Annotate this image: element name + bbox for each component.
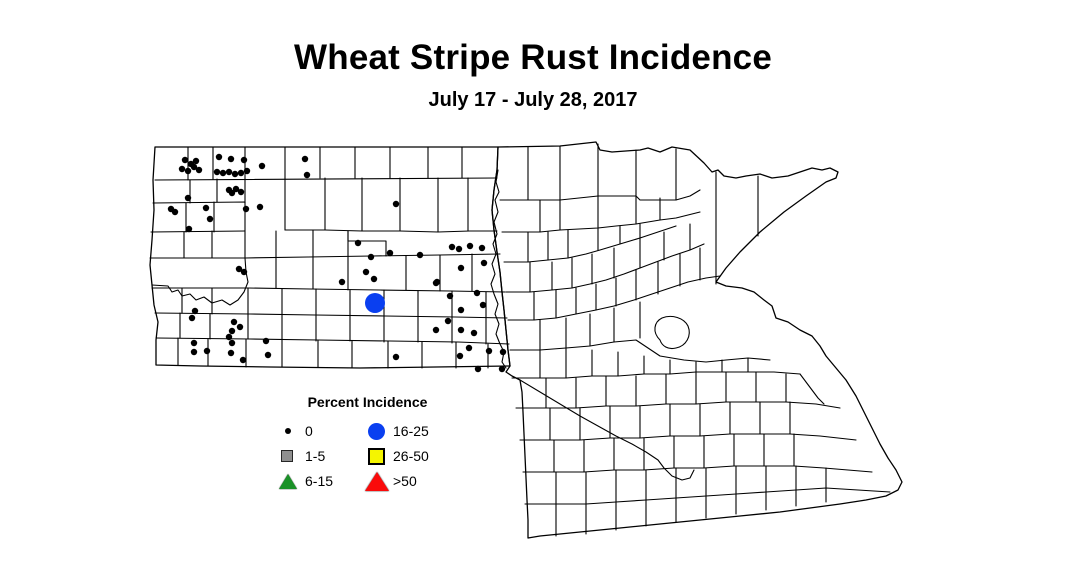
data-point-0 (474, 290, 480, 296)
map-page: Wheat Stripe Rust Incidence July 17 - Ju… (0, 0, 1066, 565)
data-point-0 (265, 352, 271, 358)
data-point-16-25 (365, 293, 385, 313)
states-counties-map (0, 0, 1066, 565)
green-triangle-icon (277, 470, 303, 492)
data-point-0 (467, 243, 473, 249)
data-point-0 (204, 348, 210, 354)
minnesota-outline (492, 142, 902, 538)
data-point-0 (471, 330, 477, 336)
mn-h7 (512, 372, 800, 378)
data-point-0 (238, 189, 244, 195)
data-point-0 (355, 240, 361, 246)
data-point-0 (302, 156, 308, 162)
mn-h2 (502, 212, 700, 232)
legend: Percent Incidence 0 1-5 6-15 16-25 26-50 (275, 394, 460, 494)
legend-label-2: 6-15 (305, 472, 333, 490)
data-point-0 (263, 338, 269, 344)
data-point-0 (499, 366, 505, 372)
data-point-0 (191, 340, 197, 346)
data-point-0 (449, 244, 455, 250)
data-point-0 (189, 315, 195, 321)
nd-tier-3 (151, 231, 245, 232)
nd-tier-6 (155, 313, 507, 318)
nd-notch-1 (348, 231, 386, 256)
legend-item-2[interactable]: 6-15 (277, 470, 367, 492)
legend-item-0[interactable]: 0 (277, 420, 367, 442)
data-point-0 (243, 206, 249, 212)
data-point-0 (191, 349, 197, 355)
legend-label-0: 0 (305, 422, 313, 440)
data-point-0 (228, 350, 234, 356)
legend-item-3[interactable]: 16-25 (365, 420, 460, 442)
data-point-0 (203, 205, 209, 211)
data-point-0 (244, 168, 250, 174)
mn-h10 (523, 466, 872, 472)
data-point-0 (371, 276, 377, 282)
data-point-0 (466, 345, 472, 351)
data-point-0 (458, 327, 464, 333)
mn-h4 (506, 244, 704, 292)
data-point-0 (458, 265, 464, 271)
data-point-0 (229, 190, 235, 196)
data-point-0 (193, 158, 199, 164)
data-point-0 (240, 357, 246, 363)
data-point-0 (237, 324, 243, 330)
data-point-0 (481, 260, 487, 266)
data-point-0 (456, 246, 462, 252)
data-point-0 (226, 169, 232, 175)
legend-item-1[interactable]: 1-5 (277, 445, 367, 467)
legend-items: 0 1-5 6-15 16-25 26-50 >50 (275, 420, 460, 494)
data-point-0 (393, 354, 399, 360)
data-point-0 (228, 156, 234, 162)
data-point-0 (433, 327, 439, 333)
data-point-0 (241, 157, 247, 163)
data-point-0 (433, 280, 439, 286)
map-canvas (0, 0, 1066, 565)
data-point-0 (229, 340, 235, 346)
data-point-0 (363, 269, 369, 275)
data-point-0 (458, 307, 464, 313)
nd-tier-1 (155, 178, 497, 180)
data-point-0 (417, 252, 423, 258)
mn-h11 (525, 488, 890, 504)
data-point-0 (216, 154, 222, 160)
legend-label-3: 16-25 (393, 422, 429, 440)
data-point-0 (480, 302, 486, 308)
mn-h6 (510, 340, 770, 362)
legend-title: Percent Incidence (275, 394, 460, 410)
data-point-0 (232, 171, 238, 177)
data-point-0 (457, 353, 463, 359)
data-point-0 (304, 172, 310, 178)
data-point-0 (229, 328, 235, 334)
data-point-0 (486, 348, 492, 354)
data-point-0 (238, 170, 244, 176)
mn-h3 (504, 226, 676, 262)
county-boundaries (150, 142, 902, 538)
mn-h1 (500, 190, 700, 200)
data-point-0 (172, 209, 178, 215)
data-point-0 (192, 308, 198, 314)
black-dot-icon (277, 420, 303, 442)
data-point-0 (368, 254, 374, 260)
legend-item-4[interactable]: 26-50 (365, 445, 460, 467)
legend-label-4: 26-50 (393, 447, 429, 465)
data-point-0 (226, 334, 232, 340)
data-point-0 (259, 163, 265, 169)
data-point-0 (185, 195, 191, 201)
mn-se-detail (800, 374, 824, 404)
legend-item-5[interactable]: >50 (365, 470, 460, 492)
data-point-0 (445, 318, 451, 324)
incidence-data-points (168, 154, 506, 372)
red-triangle-icon (365, 470, 391, 492)
data-point-0 (179, 166, 185, 172)
data-point-0 (220, 170, 226, 176)
data-point-0 (185, 168, 191, 174)
data-point-0 (339, 279, 345, 285)
data-point-0 (241, 269, 247, 275)
data-point-0 (475, 366, 481, 372)
data-point-0 (231, 319, 237, 325)
mn-h9 (520, 434, 856, 440)
data-point-0 (207, 216, 213, 222)
data-point-0 (393, 201, 399, 207)
blue-circle-icon (365, 420, 391, 442)
data-point-0 (447, 293, 453, 299)
data-point-0 (186, 226, 192, 232)
data-point-0 (387, 250, 393, 256)
missouri-river-boundary (152, 258, 248, 305)
data-point-0 (196, 167, 202, 173)
data-point-0 (257, 204, 263, 210)
data-point-0 (182, 157, 188, 163)
lake-shape-1 (655, 316, 689, 348)
data-point-0 (214, 169, 220, 175)
nd-tier-2b (285, 230, 497, 232)
data-point-0 (500, 349, 506, 355)
data-point-0 (479, 245, 485, 251)
yellow-square-icon (365, 445, 391, 467)
gray-square-icon (277, 445, 303, 467)
legend-label-1: 1-5 (305, 447, 325, 465)
legend-label-5: >50 (393, 472, 417, 490)
